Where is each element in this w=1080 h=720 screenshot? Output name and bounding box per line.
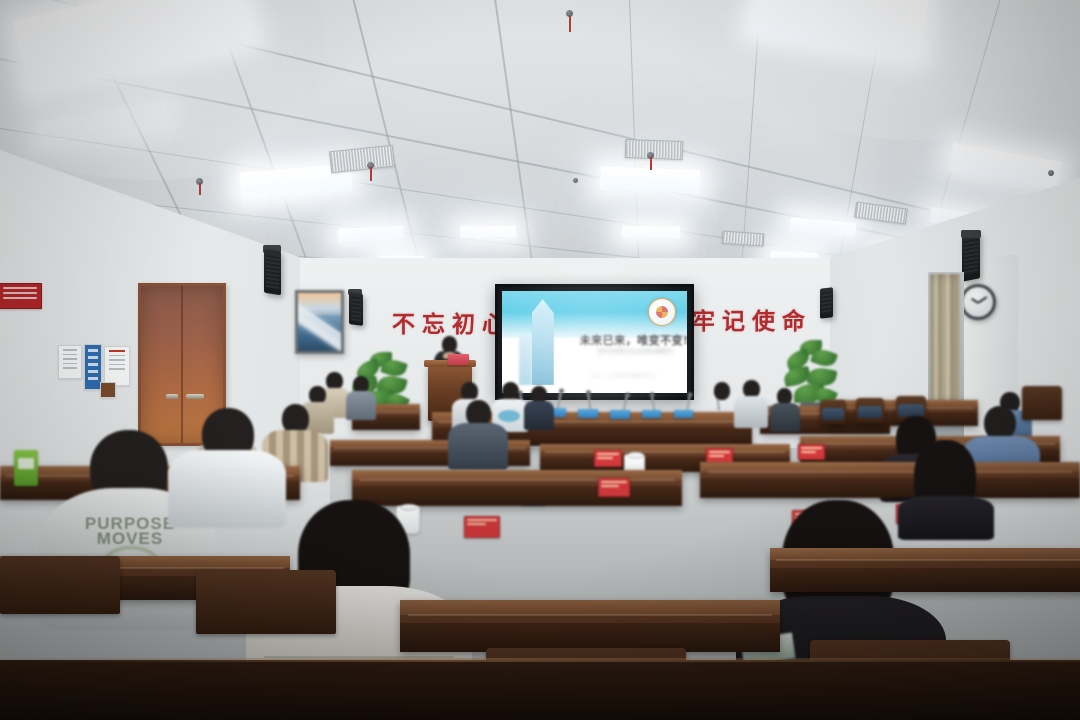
ceiling-light-panel bbox=[460, 226, 516, 239]
empty-chair-seat bbox=[858, 406, 882, 418]
wall-speaker bbox=[962, 232, 980, 281]
slide-headline: 未来已来，唯变不变! bbox=[580, 332, 687, 348]
foreground-desk-front-highlight bbox=[0, 658, 1080, 662]
foreground-desk-center bbox=[400, 600, 780, 652]
foreground-chair-1[interactable] bbox=[0, 556, 120, 614]
slogan-right: 牢记使命 bbox=[692, 302, 812, 336]
attendee-row2-center bbox=[448, 400, 508, 470]
attendee-long-hair-right bbox=[898, 440, 994, 540]
slide-logo-icon bbox=[648, 298, 676, 326]
sprinkler-head bbox=[1048, 170, 1054, 176]
slide-building-secondary bbox=[519, 336, 532, 385]
name-card bbox=[594, 450, 622, 467]
attendee-desk-row2c bbox=[700, 462, 1080, 498]
desk-display-unit bbox=[642, 410, 661, 418]
presentation-slide: 未来已来，唯变不变! 数字化转型与企业创新发展研讨 主讲人 · 企业数字化战略研… bbox=[502, 291, 687, 393]
attendee-center-3 bbox=[524, 386, 554, 430]
name-card bbox=[798, 444, 825, 460]
slogan-left: 不忘初心 bbox=[392, 305, 512, 339]
foreground-chair-2[interactable] bbox=[196, 570, 336, 634]
ceiling-light-panel bbox=[622, 225, 680, 238]
foreground-desk-front-edge bbox=[0, 660, 1080, 720]
vertical-blind bbox=[930, 274, 960, 406]
desk-display-unit bbox=[674, 410, 693, 418]
attendee-midleft-2 bbox=[346, 376, 376, 420]
conference-room-photo: 不忘初心 牢记使命 未来已来，唯变不变! 数字化转型与企业创新发展研讨 主讲人 … bbox=[0, 0, 1080, 720]
slide-skyscraper-image bbox=[532, 299, 554, 385]
attendee-right-3 bbox=[770, 388, 800, 432]
notice-small bbox=[100, 382, 116, 398]
name-card bbox=[598, 478, 630, 497]
wall-speaker bbox=[264, 249, 281, 296]
tissue-box bbox=[14, 450, 38, 486]
wall-speaker bbox=[349, 292, 363, 326]
slide-footline: 主讲人 · 企业数字化战略研究中心 bbox=[591, 373, 656, 379]
empty-chair-seat bbox=[822, 408, 844, 420]
wall-speaker bbox=[820, 287, 833, 319]
attendee-right-2 bbox=[734, 380, 768, 428]
framed-landscape-picture bbox=[295, 290, 344, 354]
notice-white-2 bbox=[104, 346, 130, 386]
desk-display-unit bbox=[610, 410, 630, 419]
red-document-folder bbox=[448, 354, 469, 365]
desk-display-unit bbox=[578, 409, 598, 418]
speaker-mount bbox=[961, 230, 981, 238]
ceiling-light-panel bbox=[600, 166, 701, 193]
sprinkler-head bbox=[573, 178, 578, 183]
air-vent bbox=[625, 139, 684, 160]
safety-notice-sign bbox=[0, 283, 42, 309]
slide-subline: 数字化转型与企业创新发展研讨 bbox=[598, 348, 674, 355]
foreground-desk-right bbox=[770, 548, 1080, 592]
notice-white-1 bbox=[58, 345, 82, 379]
wall-clock bbox=[960, 284, 996, 320]
